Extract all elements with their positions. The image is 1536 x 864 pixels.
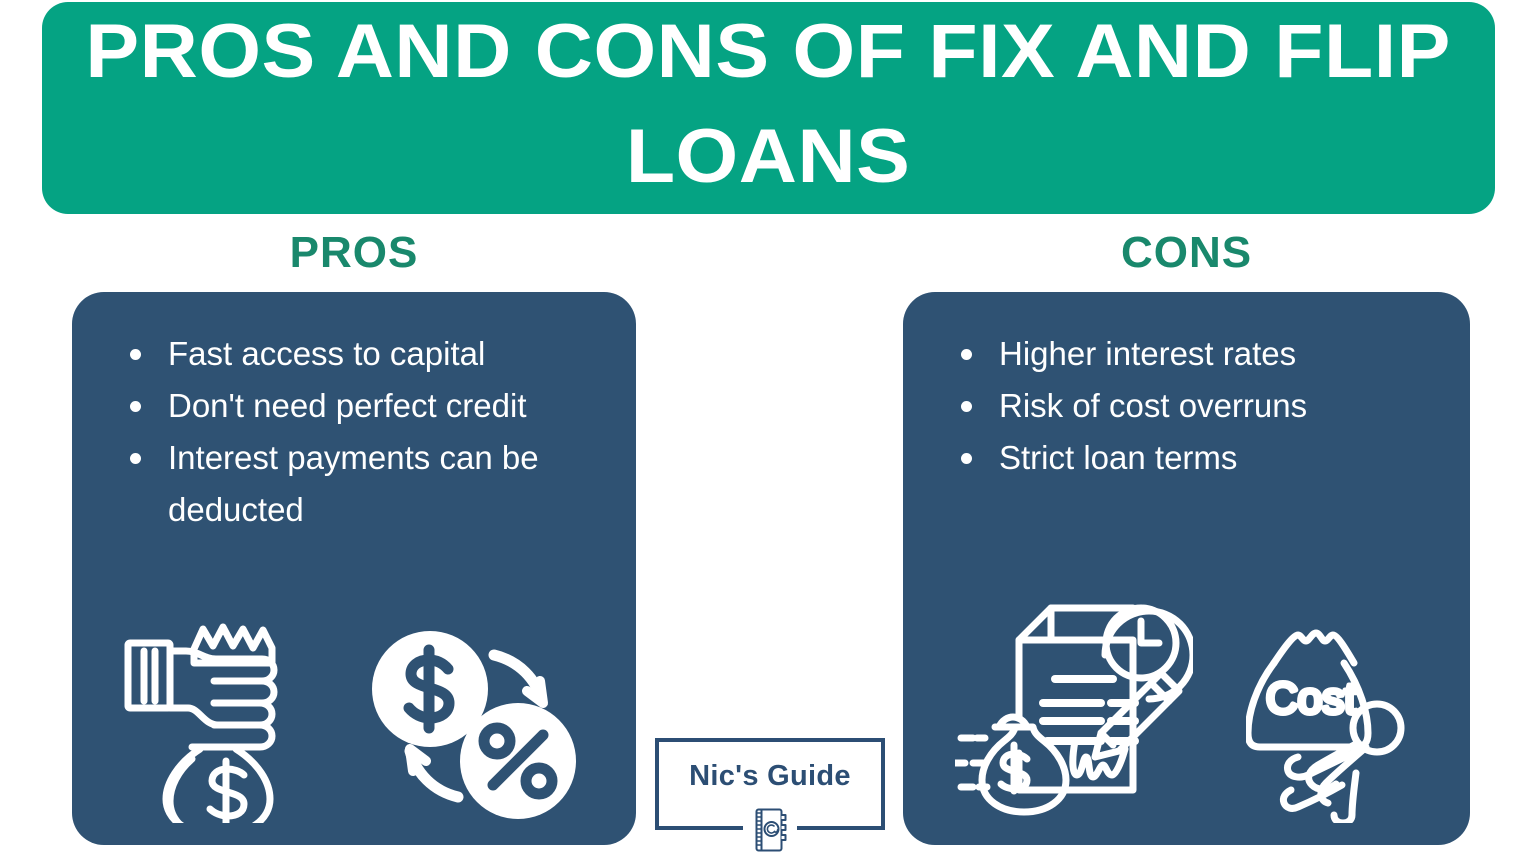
address-book-icon <box>743 802 797 858</box>
cons-list: Higher interest rates Risk of cost overr… <box>903 292 1470 484</box>
pros-icon-row <box>72 601 636 823</box>
cost-burden-figure-icon: Cost <box>1246 587 1418 823</box>
list-item-label: Higher interest rates <box>999 335 1296 372</box>
list-item: Don't need perfect credit <box>124 380 602 432</box>
list-item: Fast access to capital <box>124 328 602 380</box>
list-item-label: Interest payments can be deducted <box>168 439 539 528</box>
list-item-label: Strict loan terms <box>999 439 1237 476</box>
bullet-icon <box>130 453 141 464</box>
pros-list: Fast access to capital Don't need perfec… <box>72 292 636 536</box>
bullet-icon <box>130 349 141 360</box>
loan-contract-signing-icon <box>955 593 1193 823</box>
list-item-label: Risk of cost overruns <box>999 387 1307 424</box>
cost-bag-label: Cost <box>1266 674 1356 723</box>
cons-card: Higher interest rates Risk of cost overr… <box>903 292 1470 845</box>
list-item: Risk of cost overruns <box>955 380 1436 432</box>
infographic-canvas: PROS AND CONS OF FIX AND FLIP LOANS PROS… <box>0 0 1536 864</box>
brand-logo[interactable]: Nic's Guide <box>655 738 885 830</box>
list-item: Interest payments can be deducted <box>124 432 602 536</box>
bullet-icon <box>961 349 972 360</box>
pros-card: Fast access to capital Don't need perfec… <box>72 292 636 845</box>
list-item: Higher interest rates <box>955 328 1436 380</box>
header-banner: PROS AND CONS OF FIX AND FLIP LOANS <box>42 2 1495 214</box>
list-item: Strict loan terms <box>955 432 1436 484</box>
cons-column-heading: CONS <box>903 228 1470 278</box>
list-item-label: Don't need perfect credit <box>168 387 527 424</box>
hand-holding-money-bag-icon <box>122 601 318 823</box>
bullet-icon <box>130 401 141 412</box>
bullet-icon <box>961 401 972 412</box>
page-title: PROS AND CONS OF FIX AND FLIP LOANS <box>86 0 1452 210</box>
dollar-percent-exchange-icon <box>366 627 586 823</box>
cons-icon-row: Cost <box>903 587 1470 823</box>
bullet-icon <box>961 453 972 464</box>
logo-text: Nic's Guide <box>655 760 885 793</box>
pros-column-heading: PROS <box>72 228 636 278</box>
list-item-label: Fast access to capital <box>168 335 485 372</box>
